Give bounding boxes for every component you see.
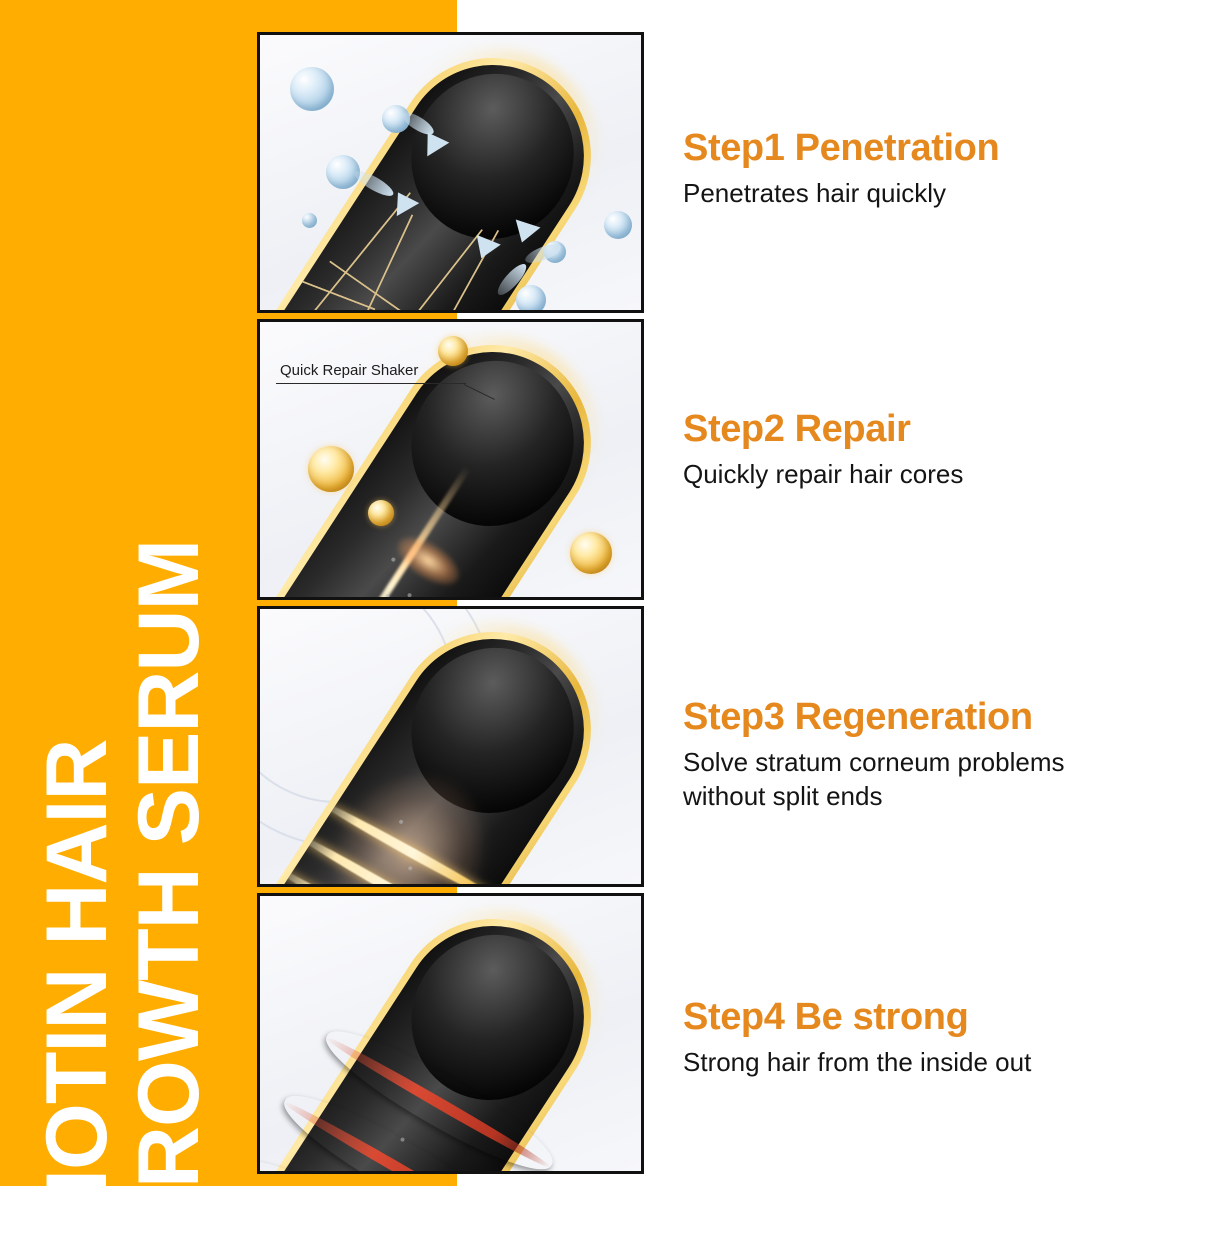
step-2-description: Quickly repair hair cores [683, 457, 1183, 492]
panel-repair-art: Quick Repair Shaker [260, 322, 641, 597]
step-4-description-line-1: Strong hair from the inside out [683, 1047, 1031, 1077]
callout-underline [276, 383, 466, 384]
panel-penetration [257, 32, 644, 313]
step-3-heading: Step3 Regeneration [683, 696, 1183, 739]
serum-bubble [302, 213, 317, 228]
panel-strong-art [260, 896, 641, 1171]
product-infographic-poster: BIOTIN HAIR GROWTH SERUM [0, 0, 1214, 1214]
step-list: Step1 Penetration Penetrates hair quickl… [683, 0, 1183, 1214]
callout-label: Quick Repair Shaker [276, 362, 506, 379]
panel-column: Quick Repair Shaker [257, 32, 644, 1180]
step-item-4: Step4 Be strong Strong hair from the ins… [683, 996, 1183, 1079]
serum-bubble [516, 285, 546, 310]
step-2-description-line-1: Quickly repair hair cores [683, 459, 963, 489]
repair-core-flare [389, 527, 466, 594]
step-3-description-line-2: without split ends [683, 781, 882, 811]
step-1-description-line-1: Penetrates hair quickly [683, 178, 946, 208]
shaft-speck [407, 592, 413, 597]
gold-droplet [308, 446, 354, 492]
step-item-1: Step1 Penetration Penetrates hair quickl… [683, 127, 1183, 210]
crack-line [329, 260, 432, 310]
shaft-tip-cap [380, 43, 605, 270]
step-2-heading: Step2 Repair [683, 408, 1183, 451]
panel-strong [257, 893, 644, 1174]
callout-quick-repair-shaker: Quick Repair Shaker [276, 362, 506, 384]
step-4-description: Strong hair from the inside out [683, 1045, 1183, 1080]
hair-shaft-strong [260, 896, 628, 1171]
panel-regeneration-art [260, 609, 641, 884]
step-3-description: Solve stratum corneum problems without s… [683, 745, 1183, 815]
gold-droplet [570, 532, 612, 574]
step-3-description-line-1: Solve stratum corneum problems [683, 747, 1064, 777]
step-item-3: Step3 Regeneration Solve stratum corneum… [683, 696, 1183, 814]
panel-penetration-art [260, 35, 641, 310]
step-1-description: Penetrates hair quickly [683, 176, 1183, 211]
step-1-heading: Step1 Penetration [683, 127, 1183, 170]
serum-bubble [604, 211, 632, 239]
panel-repair: Quick Repair Shaker [257, 319, 644, 600]
panel-regeneration [257, 606, 644, 887]
gold-droplet [368, 500, 394, 526]
shaft-speck [391, 557, 397, 563]
step-4-heading: Step4 Be strong [683, 996, 1183, 1039]
step-item-2: Step2 Repair Quickly repair hair cores [683, 408, 1183, 491]
serum-bubble [290, 67, 334, 111]
